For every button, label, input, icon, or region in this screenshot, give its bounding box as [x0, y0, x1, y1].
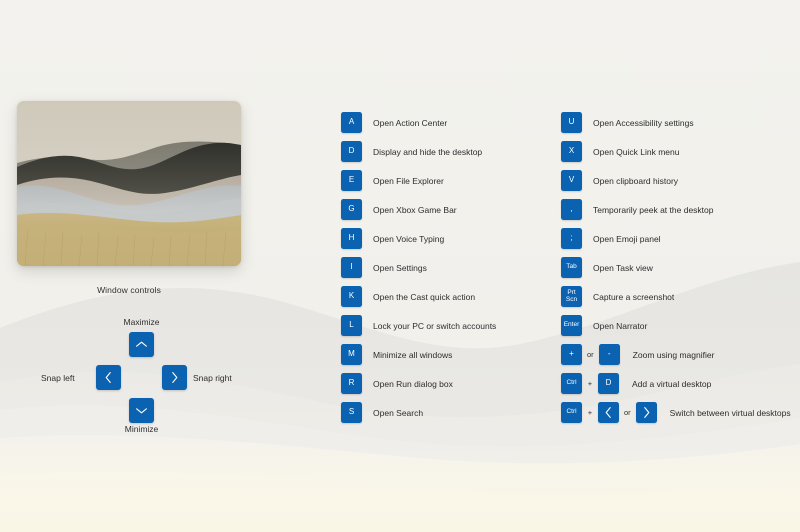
- shortcut-description: Open Voice Typing: [362, 234, 444, 244]
- shortcut-key-group: S: [341, 402, 362, 423]
- chevron-right-icon: [170, 371, 179, 384]
- shortcut-row: HOpen Voice Typing: [341, 224, 551, 253]
- shortcut-description: Switch between virtual desktops: [657, 408, 791, 418]
- shortcut-row: ROpen Run dialog box: [341, 369, 551, 398]
- shortcut-row: LLock your PC or switch accounts: [341, 311, 551, 340]
- key-ctrl[interactable]: Ctrl: [561, 402, 582, 423]
- shortcut-description: Open clipboard history: [582, 176, 678, 186]
- shortcut-description: Open the Cast quick action: [362, 292, 475, 302]
- key-d[interactable]: D: [341, 141, 362, 162]
- shortcut-key-group: V: [561, 170, 582, 191]
- snap-left-key[interactable]: [96, 365, 121, 390]
- shortcut-key-group: Ctrl+D: [561, 373, 619, 394]
- shortcut-key-group: G: [341, 199, 362, 220]
- key-joiner: or: [619, 408, 636, 417]
- wallpaper-landscape-image: [17, 101, 241, 266]
- snap-left-label: Snap left: [41, 373, 75, 383]
- maximize-label: Maximize: [17, 317, 266, 327]
- key-joiner: +: [582, 379, 598, 388]
- key-,[interactable]: ,: [561, 199, 582, 220]
- key-v[interactable]: V: [561, 170, 582, 191]
- maximize-key[interactable]: [129, 332, 154, 357]
- key-l[interactable]: L: [341, 315, 362, 336]
- shortcut-row: ,Temporarily peek at the desktop: [561, 195, 797, 224]
- shortcut-row: DDisplay and hide the desktop: [341, 137, 551, 166]
- shortcut-key-group: R: [341, 373, 362, 394]
- shortcut-key-group: M: [341, 344, 362, 365]
- chevron-left-icon: [104, 371, 113, 384]
- shortcut-key-group: E: [341, 170, 362, 191]
- shortcut-description: Open Task view: [582, 263, 653, 273]
- shortcut-description: Open Xbox Game Bar: [362, 205, 457, 215]
- shortcut-description: Open Narrator: [582, 321, 647, 331]
- key-a[interactable]: A: [341, 112, 362, 133]
- chevron-right-icon: [642, 406, 651, 419]
- key-r[interactable]: R: [341, 373, 362, 394]
- shortcut-key-group: +or-: [561, 344, 620, 365]
- key-k[interactable]: K: [341, 286, 362, 307]
- shortcut-row: EnterOpen Narrator: [561, 311, 797, 340]
- preview-caption: Window controls: [17, 285, 241, 295]
- shortcut-description: Open Action Center: [362, 118, 447, 128]
- shortcut-description: Zoom using magnifier: [620, 350, 715, 360]
- shortcut-row: MMinimize all windows: [341, 340, 551, 369]
- shortcut-description: Open Search: [362, 408, 423, 418]
- shortcut-key-group: ,: [561, 199, 582, 220]
- shortcut-description: Open Run dialog box: [362, 379, 453, 389]
- chevron-left-icon: [604, 406, 613, 419]
- shortcut-row: XOpen Quick Link menu: [561, 137, 797, 166]
- key-joiner: or: [582, 350, 599, 359]
- shortcut-key-group: I: [341, 257, 362, 278]
- shortcut-key-group: Enter: [561, 315, 582, 336]
- shortcut-row: AOpen Action Center: [341, 108, 551, 137]
- shortcut-key-group: Prt Scn: [561, 286, 582, 307]
- key-h[interactable]: H: [341, 228, 362, 249]
- shortcut-description: Lock your PC or switch accounts: [362, 321, 496, 331]
- chevron-right-key[interactable]: [636, 402, 657, 423]
- shortcut-description: Open File Explorer: [362, 176, 444, 186]
- key-x[interactable]: X: [561, 141, 582, 162]
- desktop-wallpaper-preview: [17, 101, 241, 266]
- shortcut-key-group: Ctrl+or: [561, 402, 657, 423]
- minimize-key[interactable]: [129, 398, 154, 423]
- shortcut-column-left: AOpen Action CenterDDisplay and hide the…: [341, 108, 551, 427]
- shortcut-row: GOpen Xbox Game Bar: [341, 195, 551, 224]
- key-enter[interactable]: Enter: [561, 315, 582, 336]
- chevron-up-icon: [135, 340, 148, 349]
- shortcut-key-group: X: [561, 141, 582, 162]
- key-u[interactable]: U: [561, 112, 582, 133]
- shortcut-description: Display and hide the desktop: [362, 147, 482, 157]
- key-;[interactable]: ;: [561, 228, 582, 249]
- minimize-label: Minimize: [17, 424, 266, 434]
- shortcut-column-right: UOpen Accessibility settingsXOpen Quick …: [561, 108, 797, 427]
- shortcut-key-group: D: [341, 141, 362, 162]
- shortcut-row: Ctrl+orSwitch between virtual desktops: [561, 398, 797, 427]
- shortcut-key-group: H: [341, 228, 362, 249]
- window-controls-diagram: Maximize Snap left Snap right Minimize: [17, 312, 241, 437]
- shortcut-description: Open Quick Link menu: [582, 147, 679, 157]
- shortcut-description: Minimize all windows: [362, 350, 452, 360]
- key-tab[interactable]: Tab: [561, 257, 582, 278]
- key-e[interactable]: E: [341, 170, 362, 191]
- shortcut-row: SOpen Search: [341, 398, 551, 427]
- key-ctrl[interactable]: Ctrl: [561, 373, 582, 394]
- key-s[interactable]: S: [341, 402, 362, 423]
- shortcut-row: TabOpen Task view: [561, 253, 797, 282]
- key-prt-scn[interactable]: Prt Scn: [561, 286, 582, 307]
- chevron-left-key[interactable]: [598, 402, 619, 423]
- shortcut-key-group: L: [341, 315, 362, 336]
- key-i[interactable]: I: [341, 257, 362, 278]
- shortcut-row: +or-Zoom using magnifier: [561, 340, 797, 369]
- shortcut-key-group: U: [561, 112, 582, 133]
- shortcut-description: Open Emoji panel: [582, 234, 661, 244]
- shortcut-description: Open Settings: [362, 263, 427, 273]
- chevron-down-icon: [135, 406, 148, 415]
- shortcut-row: IOpen Settings: [341, 253, 551, 282]
- shortcut-description: Temporarily peek at the desktop: [582, 205, 713, 215]
- shortcut-key-group: ;: [561, 228, 582, 249]
- key-g[interactable]: G: [341, 199, 362, 220]
- shortcut-row: KOpen the Cast quick action: [341, 282, 551, 311]
- key-joiner: +: [582, 408, 598, 417]
- shortcut-description: Add a virtual desktop: [619, 379, 711, 389]
- shortcut-key-group: K: [341, 286, 362, 307]
- shortcut-key-group: Tab: [561, 257, 582, 278]
- shortcut-row: Ctrl+DAdd a virtual desktop: [561, 369, 797, 398]
- snap-right-key[interactable]: [162, 365, 187, 390]
- key-m[interactable]: M: [341, 344, 362, 365]
- key-d[interactable]: D: [598, 373, 619, 394]
- key-+[interactable]: +: [561, 344, 582, 365]
- shortcut-description: Capture a screenshot: [582, 292, 674, 302]
- shortcut-row: ;Open Emoji panel: [561, 224, 797, 253]
- shortcut-row: EOpen File Explorer: [341, 166, 551, 195]
- shortcut-row: Prt ScnCapture a screenshot: [561, 282, 797, 311]
- shortcut-key-group: A: [341, 112, 362, 133]
- shortcut-row: UOpen Accessibility settings: [561, 108, 797, 137]
- shortcut-row: VOpen clipboard history: [561, 166, 797, 195]
- shortcut-description: Open Accessibility settings: [582, 118, 694, 128]
- key--[interactable]: -: [599, 344, 620, 365]
- snap-right-label: Snap right: [193, 373, 232, 383]
